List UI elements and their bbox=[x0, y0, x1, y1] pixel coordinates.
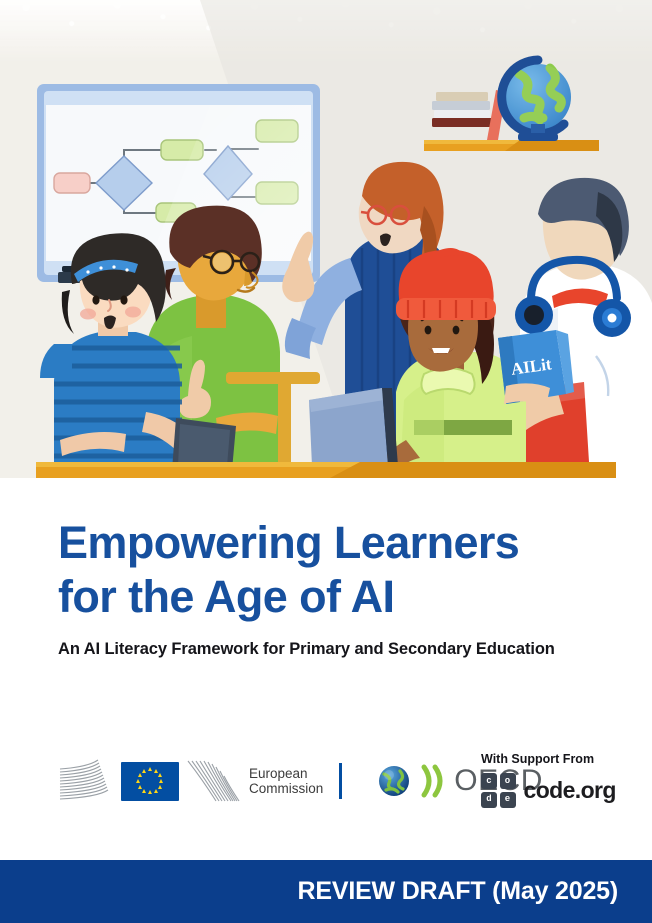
desk bbox=[36, 462, 616, 478]
codeorg-glyph-1: o bbox=[505, 777, 510, 786]
eu-star-icon bbox=[142, 789, 146, 793]
cover-illustration: AILit bbox=[0, 0, 652, 478]
eu-star-icon bbox=[138, 773, 142, 777]
eu-star-icon bbox=[158, 773, 162, 777]
codeorg-glyph-2: d bbox=[486, 795, 491, 804]
eu-star-icon bbox=[154, 789, 158, 793]
ec-flag-lines-icon bbox=[58, 759, 114, 803]
eu-star-icon bbox=[142, 769, 146, 773]
eu-star-icon bbox=[159, 779, 163, 783]
oecd-chevrons-icon bbox=[420, 763, 450, 799]
logo-row: European Commission OECD bbox=[58, 750, 543, 812]
codeorg-glyph-3: e bbox=[505, 795, 510, 804]
codeorg-cell-o: o bbox=[500, 773, 516, 789]
eu-star-icon bbox=[136, 779, 140, 783]
support-block: With Support From c o d e code.org bbox=[481, 752, 616, 808]
book-stack-item bbox=[432, 118, 494, 127]
title-line-2: for the Age of AI bbox=[58, 570, 618, 624]
eu-star-icon bbox=[148, 790, 152, 794]
codeorg-cell-c: c bbox=[481, 773, 497, 789]
codeorg-label: code.org bbox=[524, 777, 616, 804]
eu-star-icon bbox=[138, 785, 142, 789]
eu-star-icon bbox=[148, 767, 152, 771]
codeorg-cell-e: e bbox=[500, 792, 516, 808]
cover-page: AILit Empowering Learners for the Age of… bbox=[0, 0, 652, 923]
book-stack-item bbox=[432, 101, 490, 110]
ec-label-line-1: European bbox=[249, 766, 323, 782]
flow-node-start bbox=[54, 173, 90, 193]
support-label: With Support From bbox=[481, 752, 616, 766]
codeorg-logo: c o d e code.org bbox=[481, 773, 616, 808]
ec-divider bbox=[339, 763, 342, 799]
european-commission-logo: European Commission bbox=[58, 759, 342, 803]
book-stack-item bbox=[436, 92, 488, 101]
review-draft-text: REVIEW DRAFT (May 2025) bbox=[298, 877, 618, 906]
review-draft-banner: REVIEW DRAFT (May 2025) bbox=[0, 860, 652, 923]
codeorg-cell-d: d bbox=[481, 792, 497, 808]
page-subtitle: An AI Literacy Framework for Primary and… bbox=[58, 640, 618, 659]
page-title: Empowering Learners for the Age of AI bbox=[58, 516, 618, 624]
ec-flag-lines-icon-right bbox=[186, 759, 242, 803]
title-line-1: Empowering Learners bbox=[58, 517, 519, 568]
eu-flag-icon bbox=[121, 762, 179, 801]
oecd-globe-icon bbox=[376, 761, 416, 801]
classroom-scene-svg: AILit bbox=[0, 0, 652, 478]
ec-label: European Commission bbox=[249, 766, 323, 797]
book-stack-item bbox=[434, 110, 490, 118]
ec-label-line-2: Commission bbox=[249, 781, 323, 797]
codeorg-glyph-0: c bbox=[486, 777, 491, 786]
eu-star-icon bbox=[158, 785, 162, 789]
codeorg-grid-icon: c o d e bbox=[481, 773, 516, 808]
title-block: Empowering Learners for the Age of AI An… bbox=[58, 516, 618, 659]
